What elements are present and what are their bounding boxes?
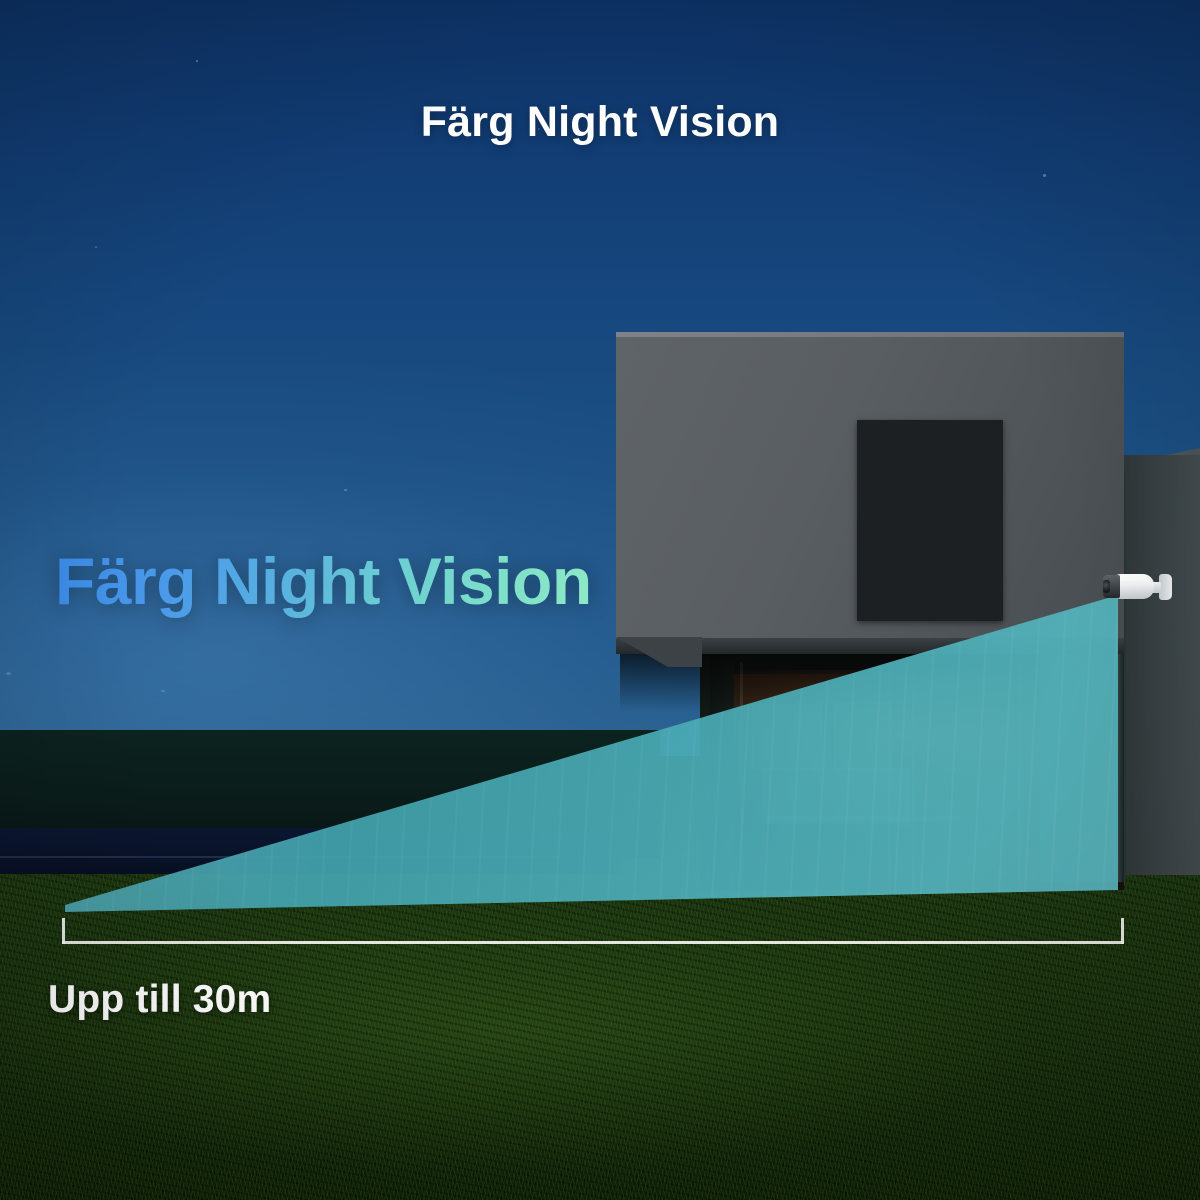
star [344,489,347,491]
star [161,690,165,692]
security-camera [1098,566,1172,610]
page-title: Färg Night Vision [0,98,1200,147]
feature-headline: Färg Night Vision [55,543,592,619]
bracket-line [62,941,1124,944]
bracket-tick-right [1121,918,1124,944]
range-label: Upp till 30m [48,978,271,1022]
range-measurement-bracket [62,918,1124,944]
house-right-wing [1122,455,1200,875]
product-feature-image: Färg Night Vision [0,0,1200,1200]
lit-window [857,420,1003,621]
camera-lens [1103,580,1110,593]
star [196,60,198,62]
star [95,246,97,248]
star [6,672,11,675]
star [1043,174,1046,177]
